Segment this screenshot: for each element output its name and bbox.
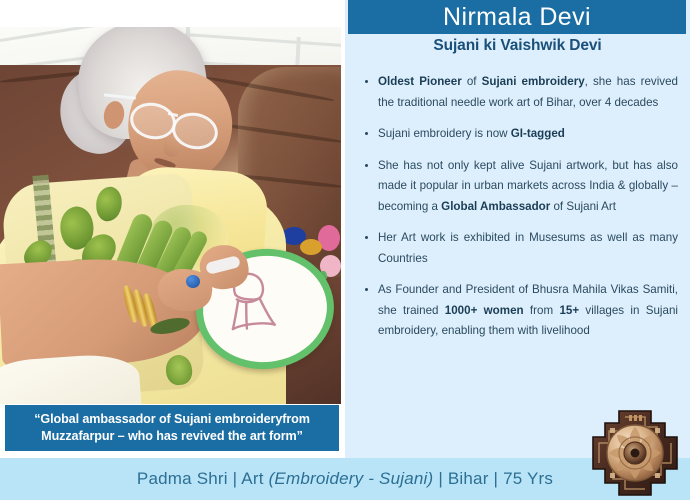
bullet-text-segment: GI-tagged <box>511 127 565 140</box>
footer-award: Padma Shri <box>137 469 228 488</box>
bullet-text-segment: Global Ambassador <box>441 200 550 213</box>
photo-ring <box>186 275 200 288</box>
footer-separator-2: | <box>438 469 443 488</box>
bullet-oldest-pioneer: Oldest Pioneer of Sujani embroidery, she… <box>345 72 690 113</box>
bullet-text-segment: of Sujani Art <box>550 200 616 213</box>
bullet-founder-president: As Founder and President of Bhusra Mahil… <box>345 280 690 342</box>
bullet-gi-tagged: Sujani embroidery is now GI-tagged <box>345 124 690 145</box>
footer-field-detail: (Embroidery - Sujani) <box>269 469 434 488</box>
bullet-text-segment: 1000+ women <box>445 304 524 317</box>
portrait-photo <box>0 27 341 404</box>
footer-separator-1: | <box>233 469 238 488</box>
footer-age: 75 Yrs <box>503 469 553 488</box>
page-title: Nirmala Devi <box>443 3 591 31</box>
bullet-text-segment: 15+ <box>559 304 579 317</box>
bullet-text-segment: Sujani embroidery <box>482 75 585 88</box>
footer-banner: Padma Shri | Art (Embroidery - Sujani) |… <box>0 458 690 500</box>
photo-thread-bundle <box>300 239 322 255</box>
title-bar: Nirmala Devi <box>348 0 686 34</box>
photo-stage <box>0 27 341 404</box>
footer-state: Bihar <box>448 469 489 488</box>
bullet-global-ambassador: She has not only kept alive Sujani artwo… <box>345 156 690 218</box>
bullet-text-segment: from <box>524 304 560 317</box>
footer-separator-3: | <box>494 469 499 488</box>
photo-white-cloth <box>0 352 142 404</box>
infographic-page: “Global ambassador of Sujani embroideryf… <box>0 0 690 500</box>
photo-caption-bar: “Global ambassador of Sujani embroideryf… <box>5 405 339 451</box>
bullet-text-segment: Sujani embroidery is now <box>378 127 511 140</box>
bullet-text-segment: Oldest Pioneer <box>378 75 462 88</box>
padma-shri-medal-icon <box>589 407 681 499</box>
bullet-museums: Her Art work is exhibited in Musesums as… <box>345 228 690 269</box>
bullet-text-segment: Her Art work is exhibited in Musesums as… <box>378 231 678 265</box>
achievement-list: Oldest Pioneer of Sujani embroidery, she… <box>345 72 690 342</box>
bullet-text-segment: of <box>462 75 482 88</box>
footer-text: Padma Shri | Art (Embroidery - Sujani) |… <box>137 469 553 489</box>
footer-field: Art <box>241 469 263 488</box>
page-subtitle: Sujani ki Vaishwik Devi <box>345 37 690 55</box>
info-panel: Nirmala Devi Sujani ki Vaishwik Devi Old… <box>345 0 690 458</box>
photo-caption-text: “Global ambassador of Sujani embroideryf… <box>13 411 331 445</box>
